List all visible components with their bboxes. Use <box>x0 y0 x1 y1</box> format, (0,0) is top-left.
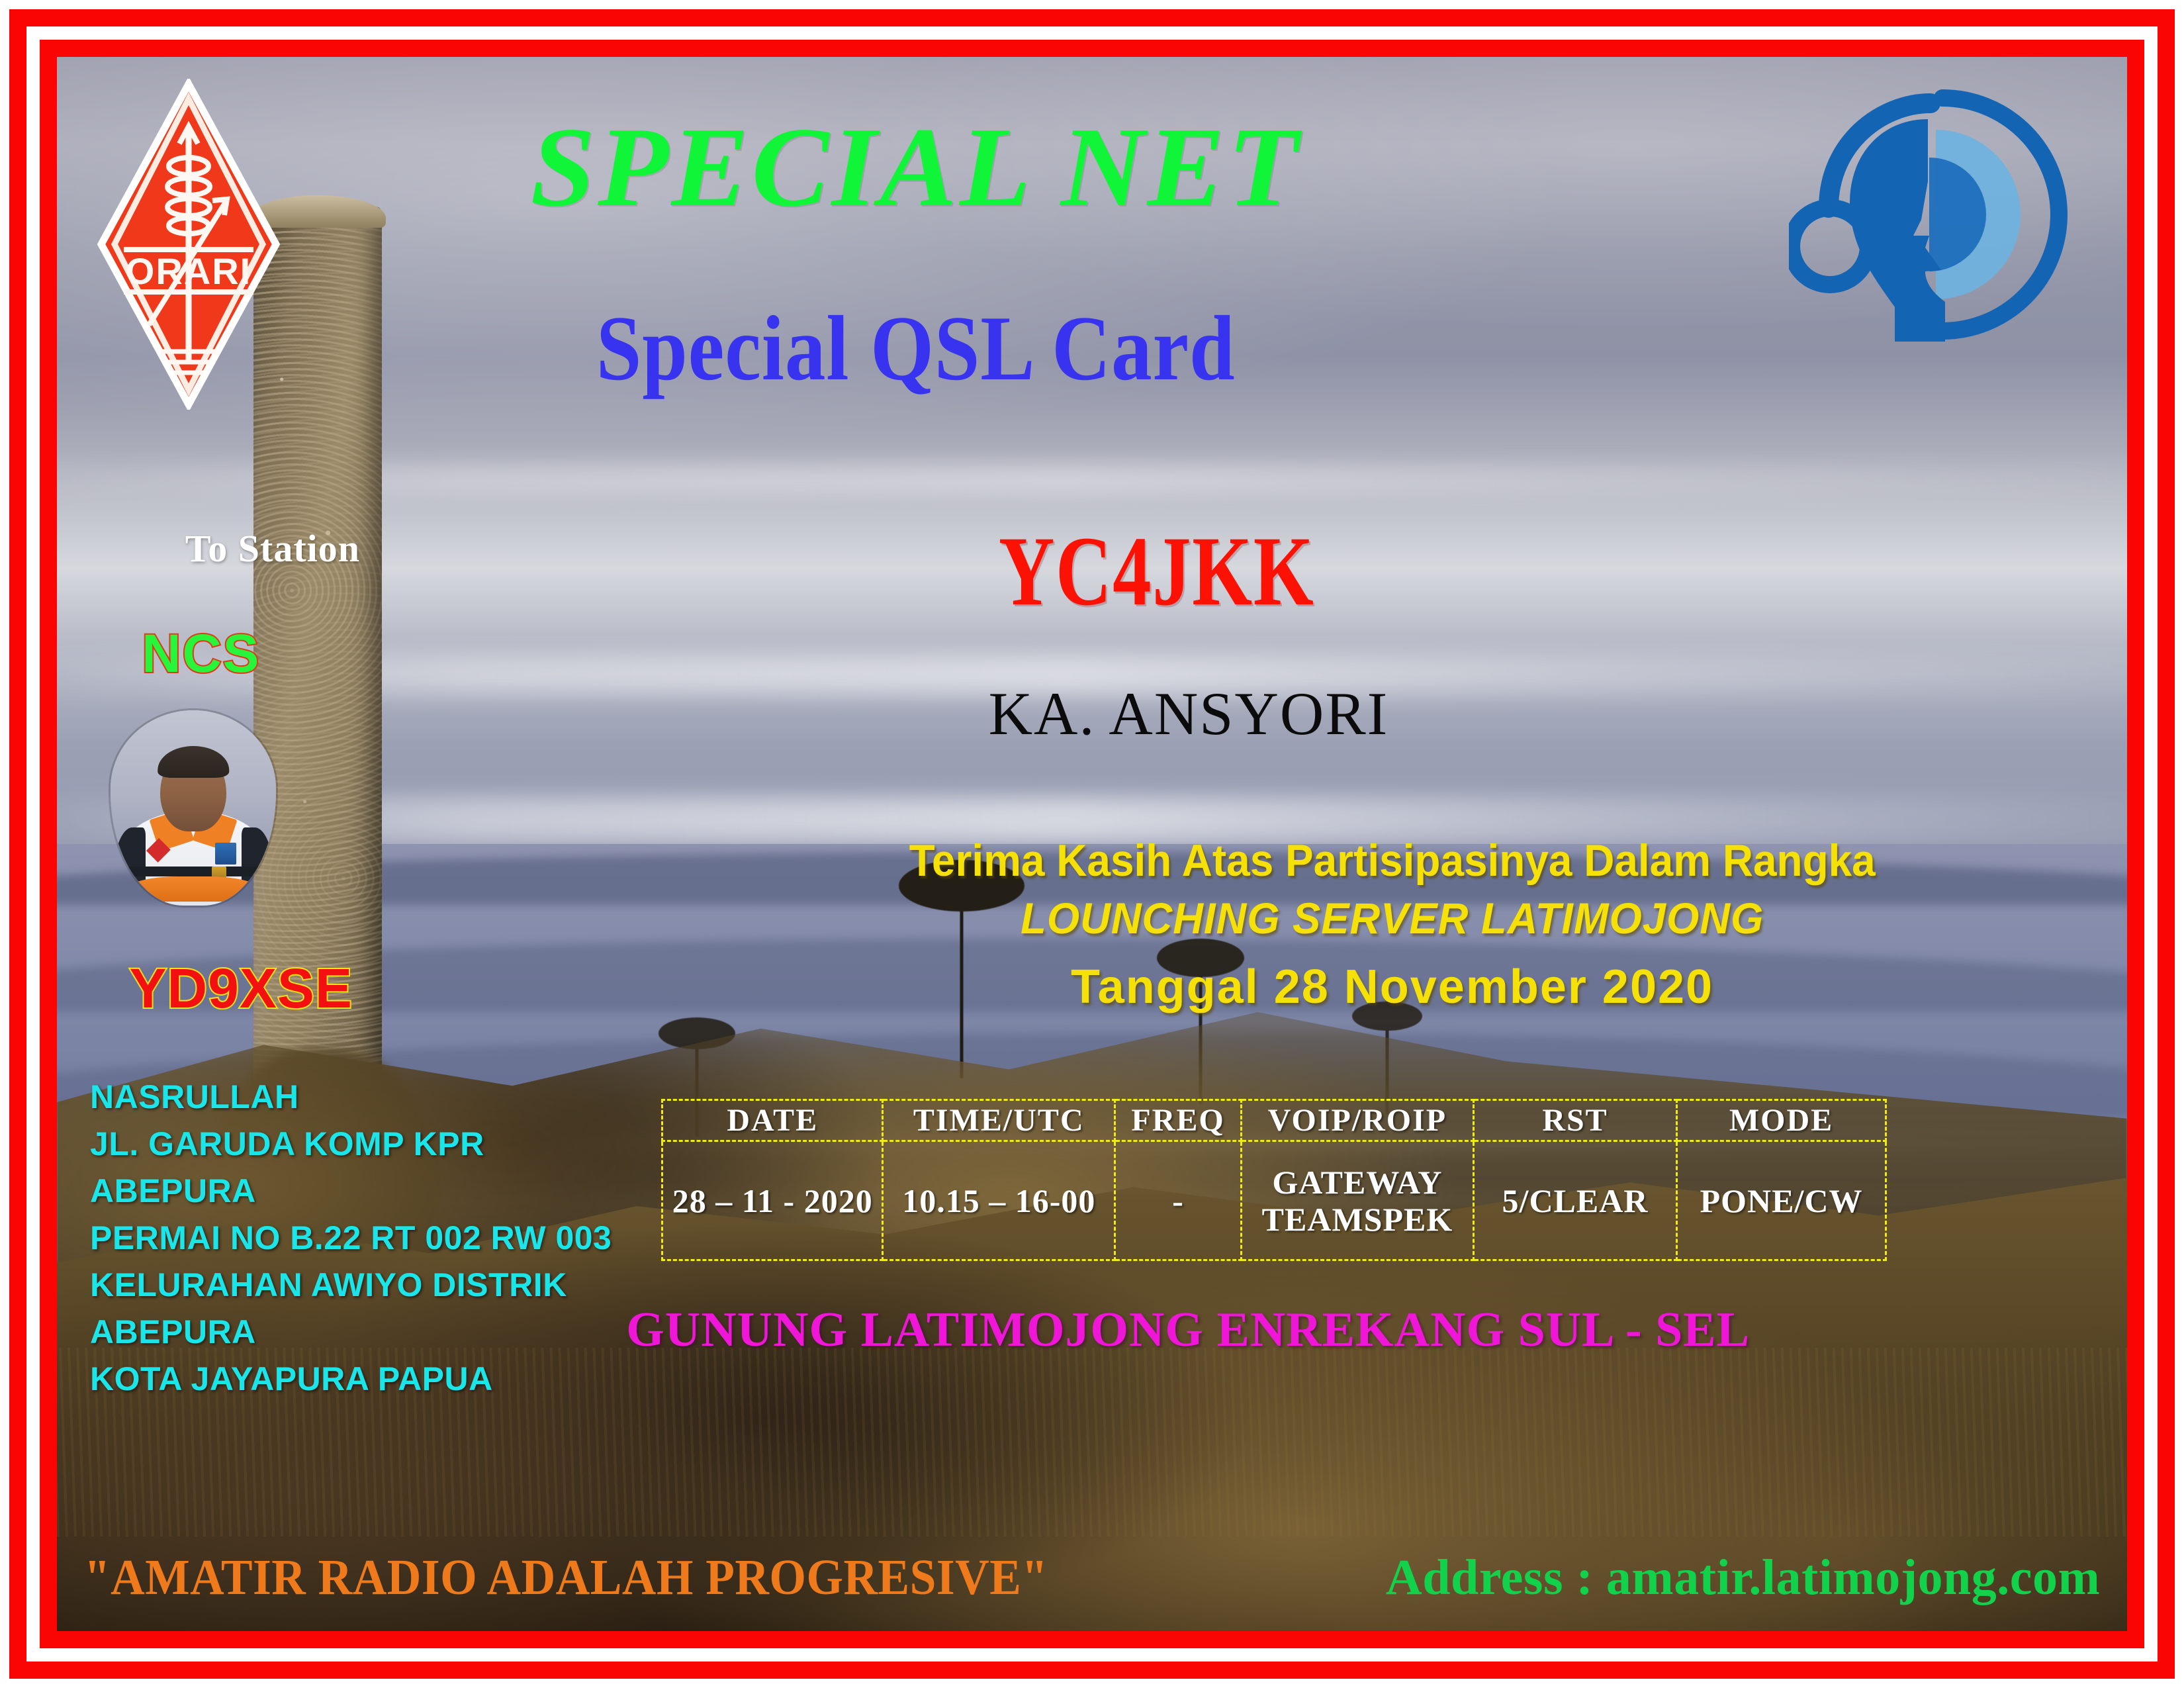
thanks-line-2-event: LOUNCHING SERVER LATIMOJONG <box>776 886 2009 951</box>
address-line: JL. GARUDA KOMP KPR <box>90 1121 612 1168</box>
column-header-rst: RST <box>1474 1100 1677 1141</box>
station-callsign: YC4JKK <box>999 522 1314 621</box>
table-row: 28 – 11 - 2020 10.15 – 16-00 - GATEWAY T… <box>662 1141 1886 1260</box>
address-line: KELURAHAN AWIYO DISTRIK <box>90 1262 612 1309</box>
cell-rst: 5/CLEAR <box>1474 1141 1677 1260</box>
footer-motto: "AMATIR RADIO ADALAH PROGRESIVE" <box>84 1552 1048 1603</box>
address-line: KOTA JAYAPURA PAPUA <box>90 1356 612 1403</box>
column-header-voip: VOIP/ROIP <box>1241 1100 1473 1141</box>
address-block: NASRULLAH JL. GARUDA KOMP KPR ABEPURA PE… <box>90 1074 612 1403</box>
column-header-freq: FREQ <box>1115 1100 1241 1141</box>
photo-orange-sash <box>120 876 266 902</box>
headset-profile-logo <box>1789 82 2073 347</box>
address-line: NASRULLAH <box>90 1074 612 1121</box>
cell-time: 10.15 – 16-00 <box>883 1141 1115 1260</box>
column-header-date: DATE <box>662 1100 883 1141</box>
page-subtitle-qsl-card: Special QSL Card <box>351 303 1481 395</box>
page-title-special-net: SPECIAL NET <box>261 111 1570 224</box>
photo-shirt-badge <box>215 843 237 864</box>
background-photo: ORARI <box>57 57 2127 1631</box>
column-header-time: TIME/UTC <box>883 1100 1115 1141</box>
ncs-label: NCS <box>142 627 260 681</box>
cell-date: 28 – 11 - 2020 <box>662 1141 883 1260</box>
address-line: ABEPURA <box>90 1168 612 1215</box>
qso-log-table: DATE TIME/UTC FREQ VOIP/ROIP RST MODE 28… <box>661 1099 1887 1261</box>
cell-voip: GATEWAY TEAMSPEK <box>1241 1141 1473 1260</box>
thanks-block: Terima Kasih Atas Partisipasinya Dalam R… <box>751 836 2034 1023</box>
column-header-mode: MODE <box>1676 1100 1886 1141</box>
location-line: GUNUNG LATIMOJONG ENREKANG SUL - SEL <box>626 1305 1750 1354</box>
operator-name: KA. ANSYORI <box>989 683 1389 744</box>
qsl-card: ORARI <box>0 0 2184 1688</box>
address-line: PERMAI NO B.22 RT 002 RW 003 <box>90 1215 612 1262</box>
cell-mode: PONE/CW <box>1676 1141 1886 1260</box>
orari-logo-text: ORARI <box>126 250 251 292</box>
thanks-line-1: Terima Kasih Atas Partisipasinya Dalam R… <box>789 836 1995 886</box>
photo-belt <box>120 867 266 876</box>
ncs-callsign: YD9XSE <box>129 961 353 1016</box>
footer-web-address: Address : amatir.latimojong.com <box>1386 1552 2100 1603</box>
address-line: ABEPURA <box>90 1309 612 1356</box>
ncs-operator-photo <box>111 710 276 906</box>
to-station-label: To Station <box>185 526 360 571</box>
thanks-line-3-date: Tanggal 28 November 2020 <box>751 951 2034 1023</box>
orari-logo: ORARI <box>96 79 281 410</box>
cell-freq: - <box>1115 1141 1241 1260</box>
table-header-row: DATE TIME/UTC FREQ VOIP/ROIP RST MODE <box>662 1100 1886 1141</box>
